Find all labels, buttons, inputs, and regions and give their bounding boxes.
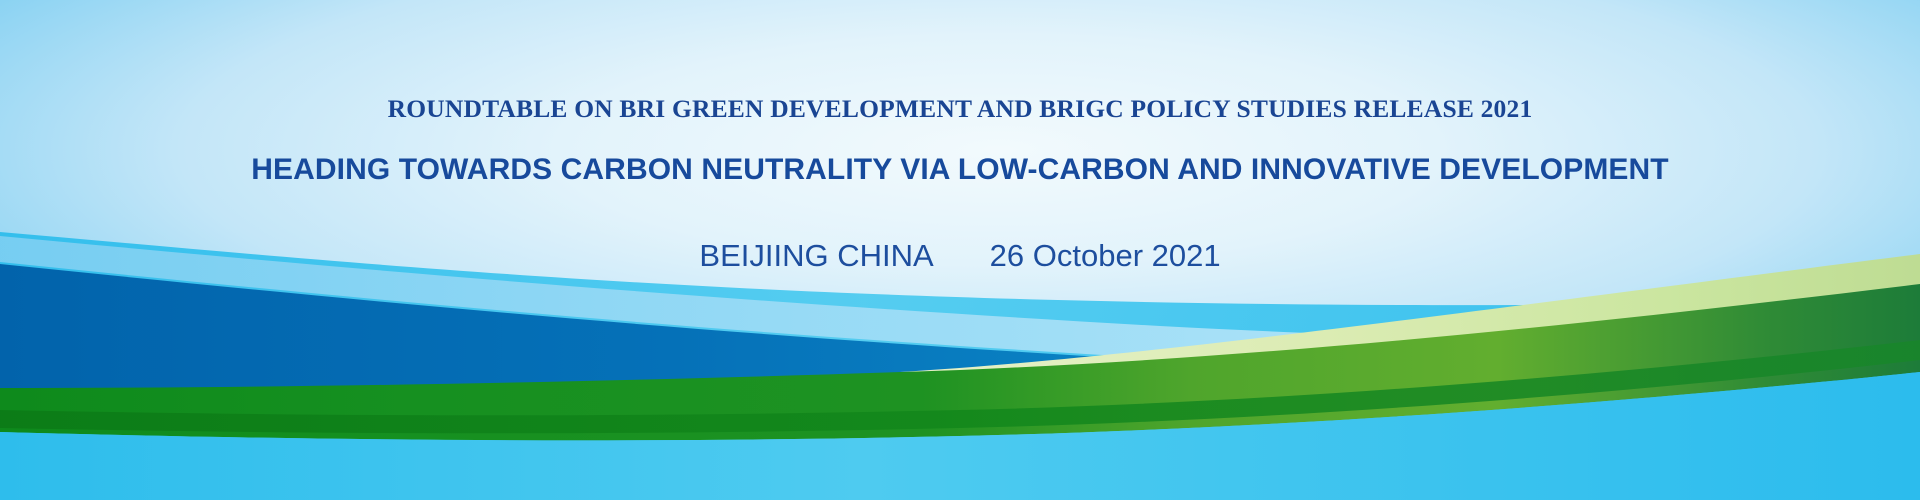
event-venue-date-row: BEIJIING CHINA 26 October 2021 — [0, 238, 1920, 274]
event-eyebrow-title: ROUNDTABLE ON BRI GREEN DEVELOPMENT AND … — [0, 94, 1920, 124]
event-venue: BEIJIING CHINA — [699, 238, 933, 274]
event-date: 26 October 2021 — [990, 238, 1221, 274]
banner-text-layer: ROUNDTABLE ON BRI GREEN DEVELOPMENT AND … — [0, 0, 1920, 500]
event-headline-title: HEADING TOWARDS CARBON NEUTRALITY VIA LO… — [0, 153, 1920, 187]
event-banner: ROUNDTABLE ON BRI GREEN DEVELOPMENT AND … — [0, 0, 1920, 500]
